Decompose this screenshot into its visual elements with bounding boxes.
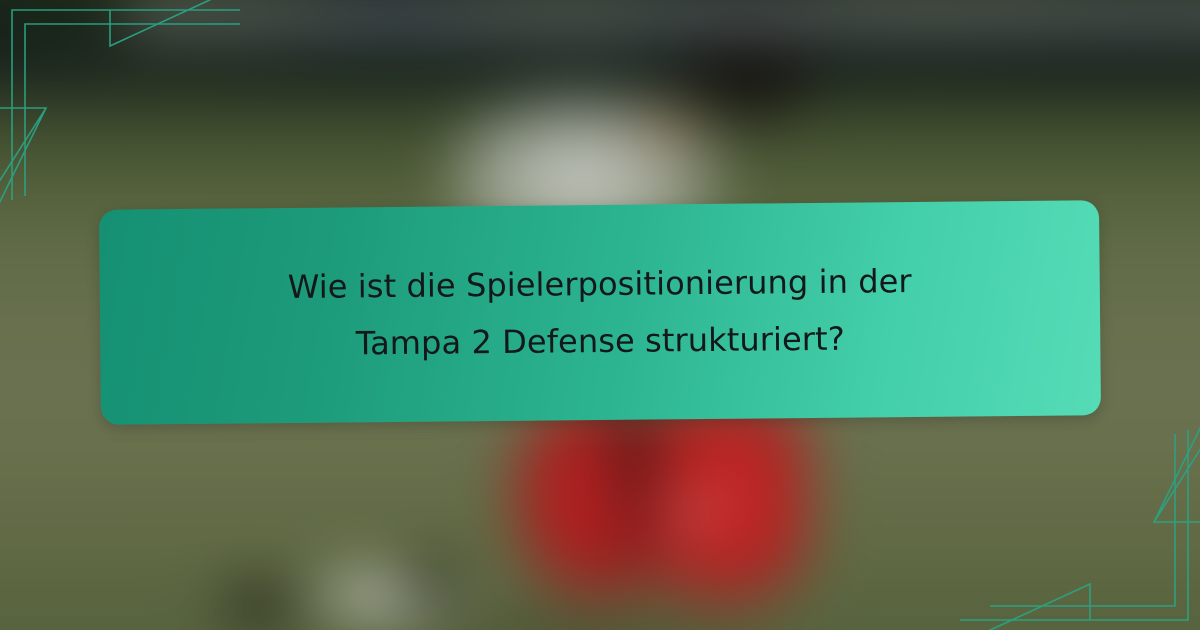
question-card: Wie ist die Spielerpositionierung in der… [0,0,1200,630]
title-banner-wrapper: Wie ist die Spielerpositionierung in der… [99,200,1101,425]
title-banner: Wie ist die Spielerpositionierung in der… [99,200,1101,425]
question-title: Wie ist die Spielerpositionierung in der… [239,252,960,373]
